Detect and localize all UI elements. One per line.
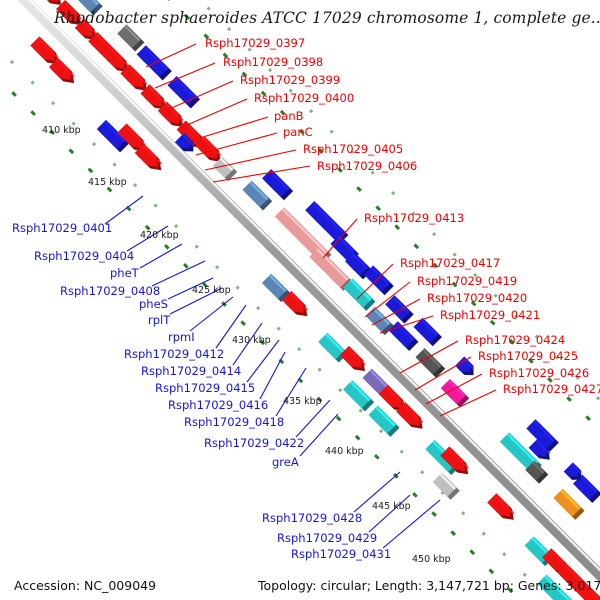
leader-line: [260, 352, 285, 399]
gene-feature[interactable]: [564, 462, 582, 480]
gene-label[interactable]: Rsph17029_0397: [205, 37, 305, 49]
gene-label[interactable]: Rsph17029_0401: [12, 222, 112, 234]
gene-label[interactable]: Rsph17029_0421: [440, 309, 540, 321]
scale-tick-label: 420 kbp: [140, 230, 179, 241]
gene-label[interactable]: Rsph17029_0419: [417, 275, 517, 287]
page-title: Rhodobacter sphaeroides ATCC 17029 chrom…: [54, 9, 600, 27]
gene-label[interactable]: Rsph17029_0408: [60, 285, 160, 297]
scale-tick-label: 415 kbp: [88, 177, 127, 188]
genome-viewer-canvas[interactable]: Rhodobacter sphaeroides ATCC 17029 chrom…: [0, 0, 600, 600]
gene-label[interactable]: rpmI: [168, 331, 195, 343]
gene-label[interactable]: Rsph17029_0418: [184, 416, 284, 428]
gene-label[interactable]: Rsph17029_0429: [277, 532, 377, 544]
leader-line: [105, 196, 143, 224]
gene-label[interactable]: Rsph17029_0420: [427, 292, 527, 304]
gene-feature[interactable]: [242, 181, 272, 211]
gene-feature[interactable]: [30, 36, 58, 64]
gene-label[interactable]: greA: [272, 456, 299, 468]
gene-label[interactable]: panB: [274, 110, 304, 122]
gene-label[interactable]: Rsph17029_0400: [254, 92, 354, 104]
scale-tick-label: 430 kbp: [232, 335, 271, 346]
gene-label[interactable]: Rsph17029_0405: [303, 143, 403, 155]
gene-feature[interactable]: [415, 348, 445, 378]
gene-label[interactable]: Rsph17029_0398: [223, 56, 323, 68]
gene-label[interactable]: Rsph17029_0413: [364, 212, 464, 224]
gene-label[interactable]: pheT: [110, 267, 139, 279]
gene-label[interactable]: Rsph17029_0427: [503, 383, 600, 395]
gene-feature[interactable]: [262, 169, 293, 200]
gene-label[interactable]: Rsph17029_0404: [34, 250, 134, 262]
gene-label[interactable]: panC: [283, 126, 313, 138]
leader-line: [190, 297, 233, 331]
gene-feature-body[interactable]: [30, 36, 55, 61]
leader-line: [276, 368, 306, 416]
gene-label[interactable]: Rsph17029_0416: [168, 399, 268, 411]
gene-label[interactable]: Rsph17029_0426: [489, 367, 589, 379]
gene-feature[interactable]: [117, 24, 144, 51]
scale-tick-label: 445 kbp: [372, 501, 411, 512]
gene-feature[interactable]: [368, 406, 399, 437]
leader-line: [190, 117, 268, 141]
scale-tick-label: 435 kbp: [283, 396, 322, 407]
gene-feature[interactable]: [455, 357, 474, 376]
gene-label[interactable]: Rsph17029_0417: [400, 257, 500, 269]
gene-label[interactable]: pheS: [139, 298, 168, 310]
gene-label[interactable]: Rsph17029_0428: [262, 512, 362, 524]
gene-feature[interactable]: [343, 278, 375, 310]
gene-label[interactable]: Rsph17029_0406: [317, 160, 417, 172]
gene-feature-body[interactable]: [137, 45, 169, 77]
gene-label[interactable]: Rsph17029_0399: [240, 74, 340, 86]
scale-tick-label: 450 kbp: [412, 554, 451, 565]
gene-feature-body[interactable]: [487, 493, 510, 516]
gene-label[interactable]: Rsph17029_0414: [141, 365, 241, 377]
scale-tick-label: 410 kbp: [42, 125, 81, 136]
gene-label[interactable]: rplT: [148, 314, 170, 326]
gene-feature[interactable]: [553, 489, 584, 520]
gene-label[interactable]: Rsph17029_0431: [291, 548, 391, 560]
gene-label[interactable]: Rsph17029_0415: [155, 382, 255, 394]
gene-feature[interactable]: [487, 493, 514, 520]
leader-line: [140, 244, 182, 268]
scale-tick-label: 440 kbp: [325, 446, 364, 457]
gene-label[interactable]: Rsph17029_0422: [204, 437, 304, 449]
gene-label[interactable]: Rsph17029_0424: [465, 334, 565, 346]
scale-tick-label: 425 kbp: [192, 285, 231, 296]
gene-label[interactable]: Rsph17029_0412: [124, 348, 224, 360]
leader-line: [152, 261, 205, 286]
gene-feature[interactable]: [33, 0, 61, 5]
gene-label[interactable]: Rsph17029_0425: [478, 350, 578, 362]
leader-line: [247, 340, 279, 382]
gene-feature[interactable]: [433, 473, 460, 500]
gene-feature[interactable]: [343, 380, 374, 411]
gene-feature[interactable]: [385, 295, 413, 323]
